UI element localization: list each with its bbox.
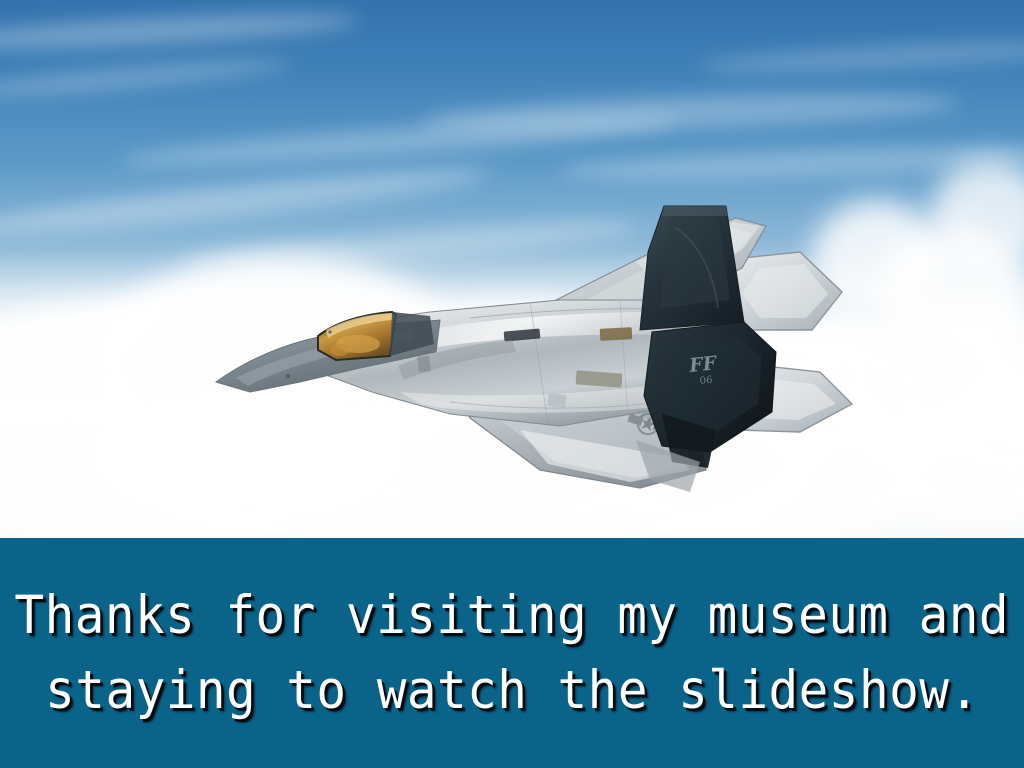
caption-line-2: staying to watch the slideshow. [45,653,979,728]
caption-line-1: Thanks for visiting my museum and [15,578,1010,653]
caption-band: Thanks for visiting my museum and stayin… [0,538,1024,768]
cirrus-cloud-streak [700,36,1024,78]
cirrus-cloud-streak [0,54,290,103]
sun-haze-glow [40,330,560,538]
presentation-slide: FF 06 Thanks for visiting my museum and … [0,0,1024,768]
sky-background [0,0,1024,538]
cirrus-cloud-streak [420,87,961,138]
cirrus-cloud-streak [0,7,360,55]
